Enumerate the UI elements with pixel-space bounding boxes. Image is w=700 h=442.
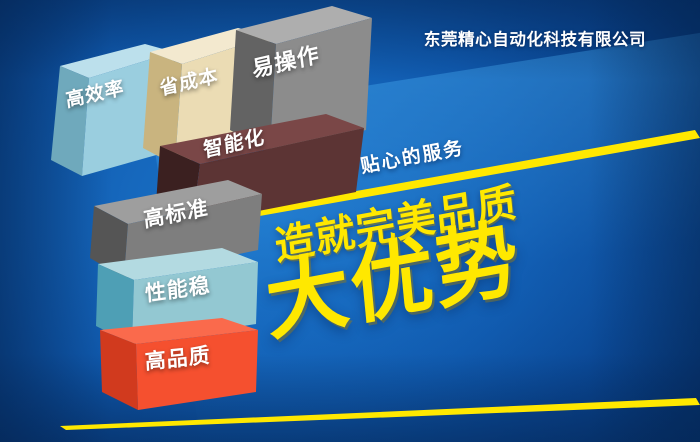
feature-blocks-group: 高效率 省成本 易操作: [0, 0, 700, 442]
promo-banner: 东莞精心自动化科技有限公司 高效率 省成本: [0, 0, 700, 442]
feature-block-6[interactable]: 高品质: [98, 318, 263, 423]
